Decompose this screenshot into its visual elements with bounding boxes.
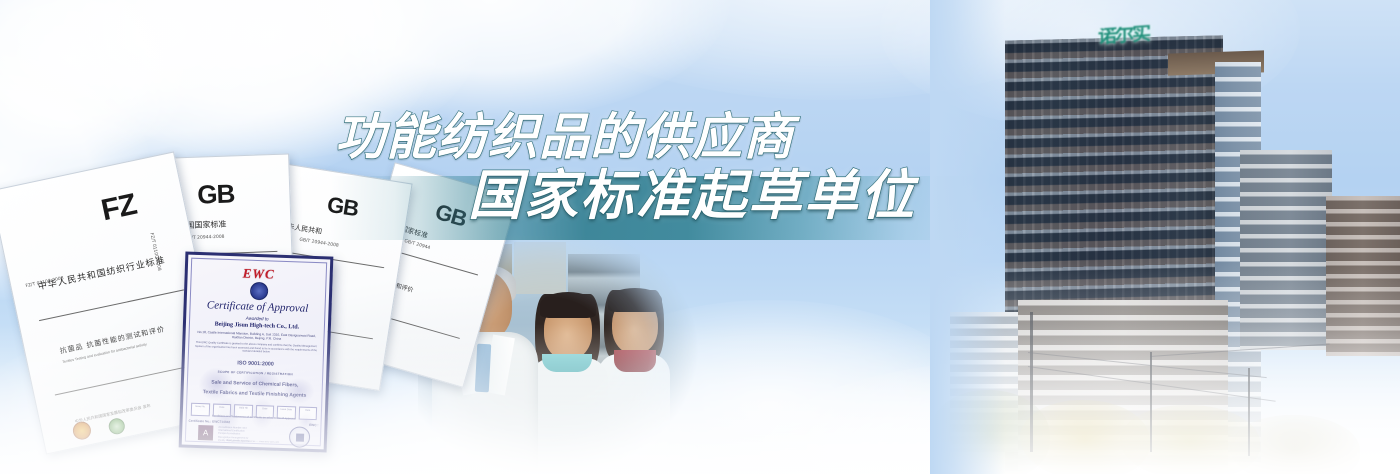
researcher-hair [608,288,662,312]
distant-tower [1326,196,1400,356]
headline-line-1: 功能纺织品的供应商 [0,108,940,166]
street-lamp-post [1248,368,1250,456]
lab-cabinet [514,242,566,294]
researcher-lab-coat [530,358,608,474]
document-title: 中华人民共和国纺织行业标准 [37,253,167,293]
rooftop-sign-text: 诺尔实 [1098,23,1172,62]
street-lamp-post [1150,352,1152,452]
divider [55,364,200,396]
tower-window-grid [1326,196,1400,356]
box-label: Date [262,407,267,410]
headline-line-2: 国家标准起草单位 [0,166,940,226]
box-label: Issue No. [195,405,205,408]
stamp-center-mark [295,433,303,441]
box-label: Valid Till [239,406,248,409]
researcher-hair [540,292,596,318]
city-skyline-photo: 诺尔实 [930,0,1400,474]
document-seal [107,417,126,436]
ewc-certificate-of-approval: EWC Certificate of Approval Awarded to B… [179,251,334,452]
researcher-lab-coat [598,354,670,474]
street-lamp-post [1030,312,1033,452]
certificate-issuer-label: EWC : [309,423,319,427]
divider [39,289,184,321]
researcher-collar [542,354,592,372]
necktie [475,344,491,393]
box-label: Date [219,406,224,409]
certificate-number-label: Certificate No.: [188,419,211,424]
box-label: Date [305,409,310,412]
document-code: GB/T 20944-2008 [299,238,339,249]
tower-window-grid [1240,150,1332,350]
cloud-shape [250,0,730,120]
certificate-number-value: EWC714042 [212,420,230,425]
box-label: Issue Date [280,408,292,411]
secondary-tower [1240,150,1332,350]
banner-headline: 功能纺织品的供应商 国家标准起草单位 [0,108,940,226]
researcher-collar [614,350,656,372]
document-code: GB/T 20944 [404,239,431,251]
company-hero-banner: 诺尔实 [0,0,1400,474]
